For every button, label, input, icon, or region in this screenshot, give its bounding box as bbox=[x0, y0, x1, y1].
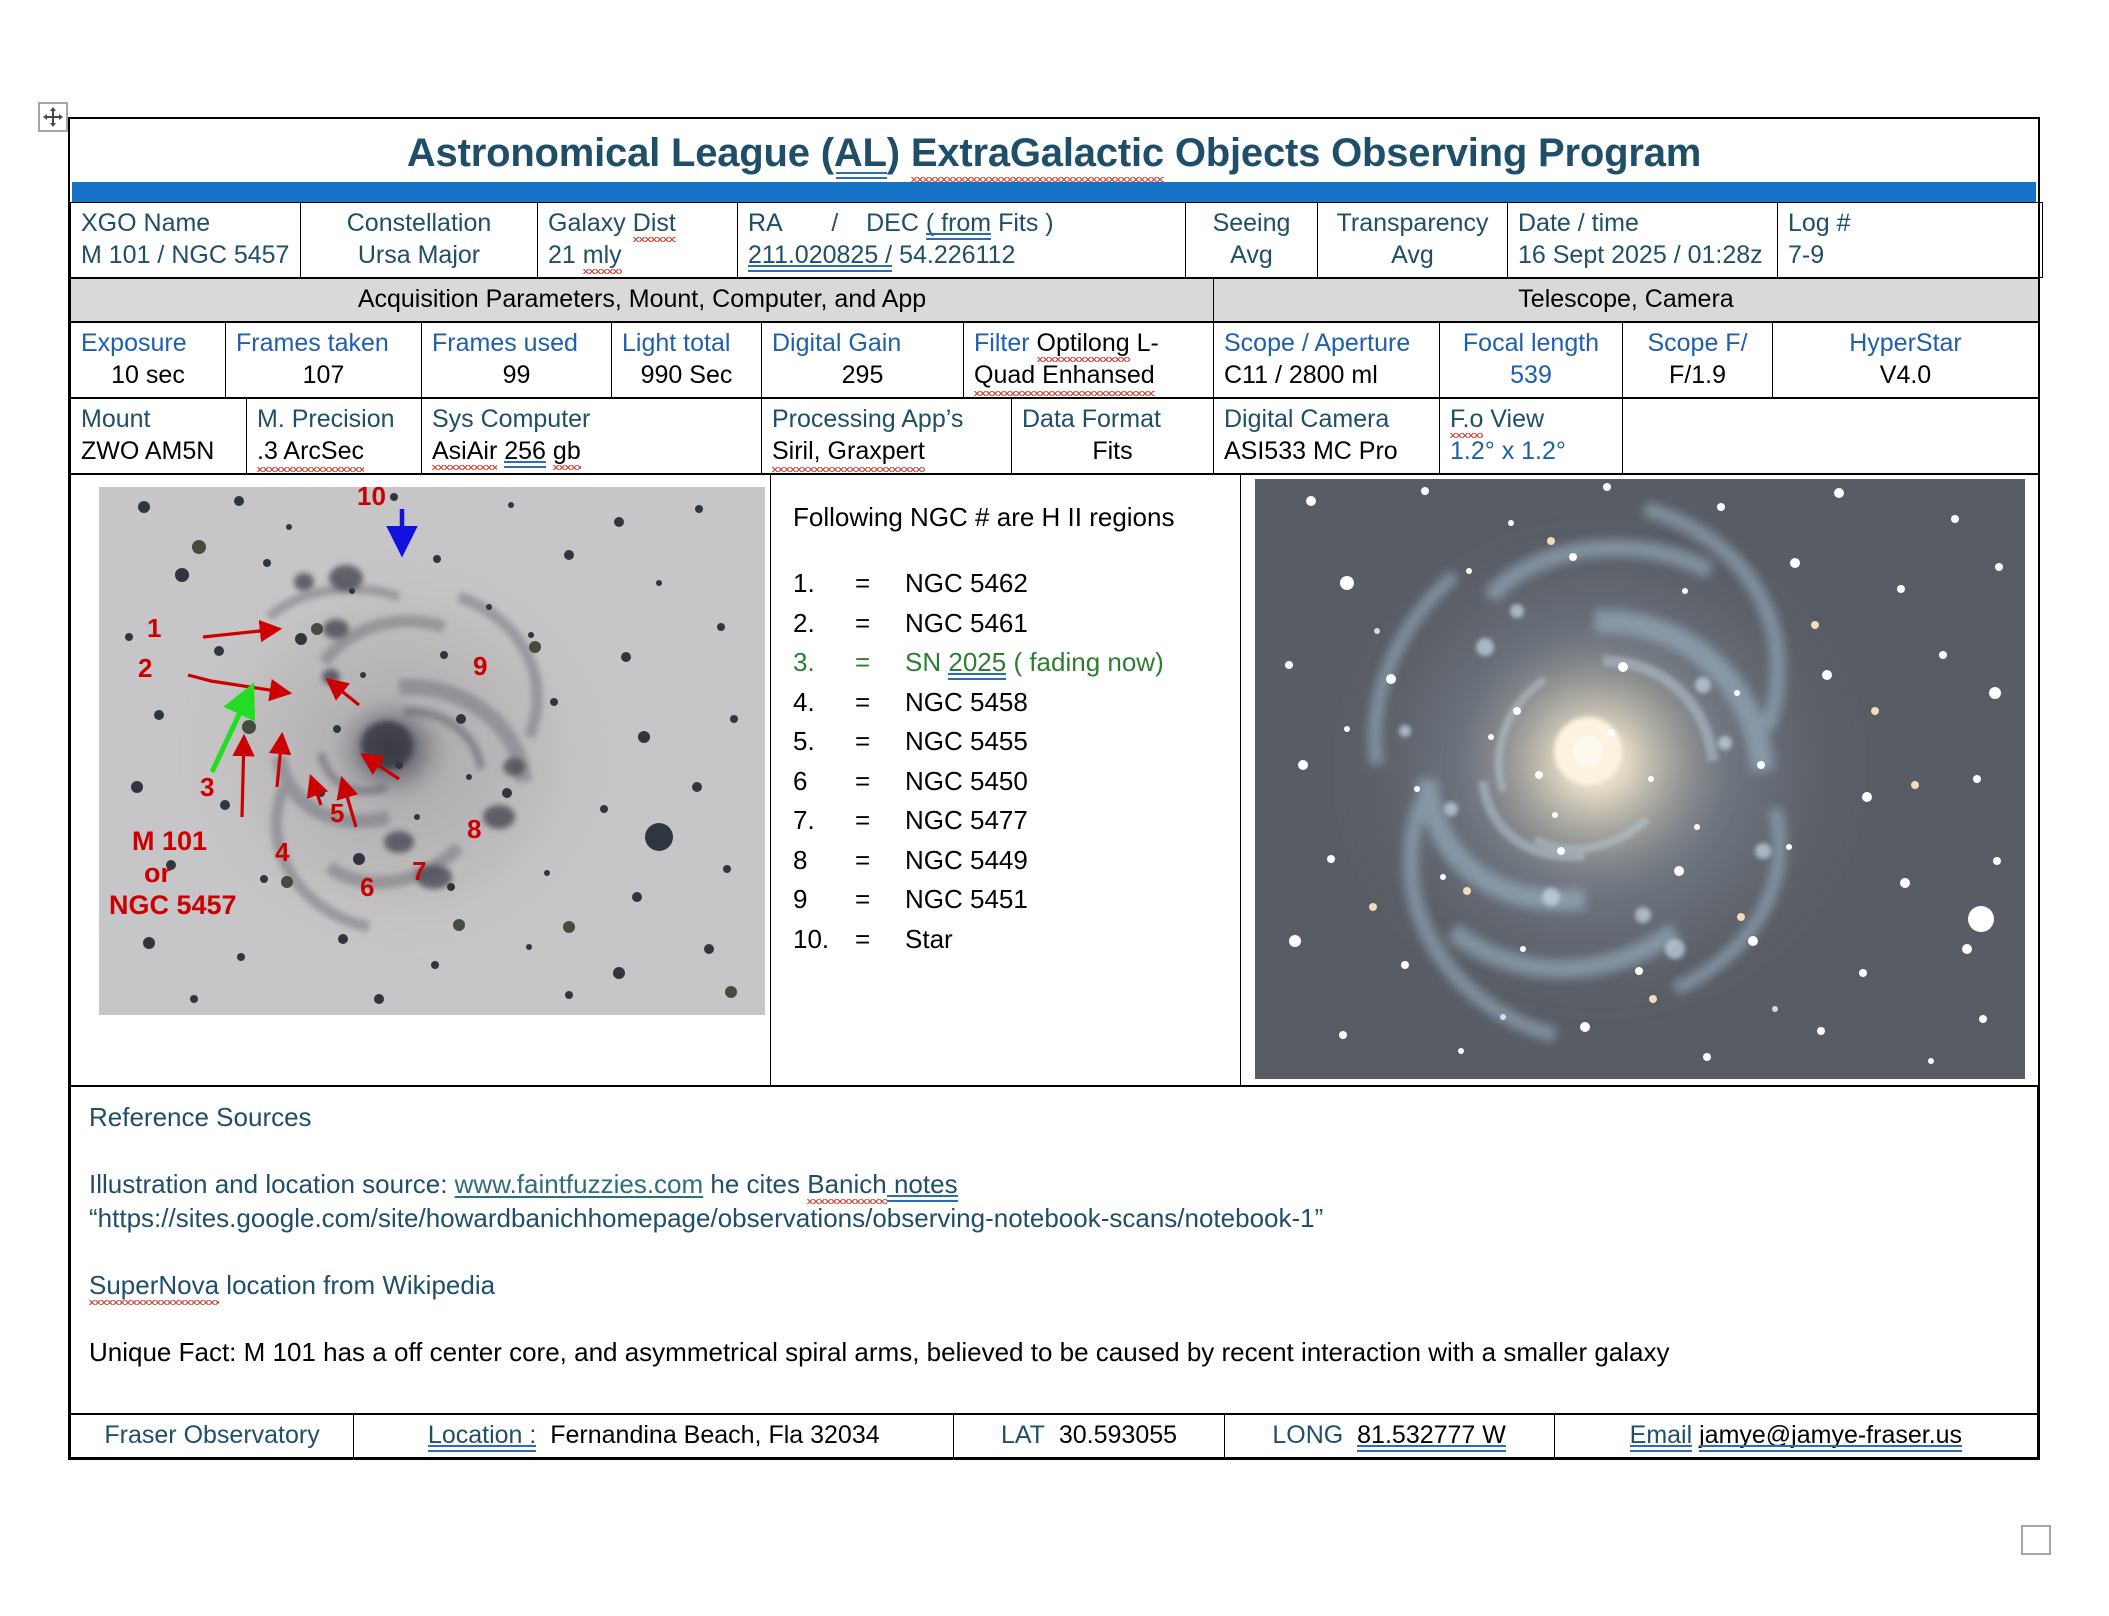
cell-ngc-legend: Following NGC # are H II regions 1. = NG… bbox=[771, 475, 1241, 1086]
value-sys-computer-brand: AsiAir bbox=[432, 437, 497, 465]
value-exposure: 10 sec bbox=[81, 359, 215, 391]
annotation-label-1: 1 bbox=[147, 615, 161, 641]
ngc-legend-list: 1. = NGC 5462 2. = NGC 5461 3. = SN bbox=[793, 564, 1230, 959]
label-filter-word: Filter bbox=[974, 329, 1030, 357]
ngc-number: 10. bbox=[793, 920, 855, 960]
label-mount: Mount bbox=[81, 403, 236, 435]
cell-data-format: Data Format Fits bbox=[1012, 399, 1214, 474]
value-log-number: 7-9 bbox=[1788, 239, 2032, 271]
photograph-canvas bbox=[1255, 479, 2025, 1079]
page-title-row: Astronomical League (AL) ExtraGalactic O… bbox=[70, 119, 2038, 182]
references-table: Reference Sources Illustration and locat… bbox=[70, 1086, 2038, 1414]
cell-transparency: Transparency Avg bbox=[1318, 203, 1508, 278]
band-acquisition: Acquisition Parameters, Mount, Computer,… bbox=[71, 279, 1214, 322]
label-transparency: Transparency bbox=[1328, 207, 1497, 239]
label-dec: DEC bbox=[866, 209, 919, 237]
identity-table: XGO Name M 101 / NGC 5457 Constellation … bbox=[70, 202, 2043, 278]
spacer bbox=[89, 1302, 2037, 1336]
illustration-caption-line-1: M 101 bbox=[132, 828, 207, 855]
sn-suffix: ( fading now) bbox=[1013, 647, 1163, 677]
label-scope-f: Scope F/ bbox=[1633, 327, 1762, 359]
email-label: Email bbox=[1630, 1421, 1693, 1449]
table-resize-handle[interactable] bbox=[2021, 1525, 2051, 1555]
document-page: Astronomical League (AL) ExtraGalactic O… bbox=[0, 0, 2109, 1616]
list-item: 1. = NGC 5462 bbox=[793, 564, 1230, 604]
acquisition-table: Exposure 10 sec Frames taken 107 Frames … bbox=[70, 322, 2039, 398]
title-part-5: Objects Observing Program bbox=[1164, 131, 1701, 175]
label-filter: Filter Optilong L- bbox=[974, 327, 1203, 359]
title-extragalactic-text: ExtraGalactic bbox=[911, 131, 1164, 175]
cell-field-of-view: F.o View 1.2° x 1.2° bbox=[1440, 399, 1623, 474]
squiggle-dist: Dist bbox=[633, 209, 676, 237]
label-exposure: Exposure bbox=[81, 327, 215, 359]
ngc-number: 1. bbox=[793, 564, 855, 604]
email-value-text: jamye@jamye-fraser.us bbox=[1699, 1421, 1962, 1449]
ngc-value: NGC 5462 bbox=[905, 564, 1230, 604]
label-data-format: Data Format bbox=[1022, 403, 1203, 435]
cell-scope-aperture: Scope / Aperture C11 / 2800 ml bbox=[1214, 323, 1440, 398]
ngc-value: NGC 5455 bbox=[905, 722, 1230, 762]
reference-notes: notes bbox=[887, 1169, 958, 1199]
value-galaxy-dist: 21 mly bbox=[548, 239, 727, 271]
ngc-equals: = bbox=[855, 880, 905, 920]
value-processing-apps: Siril, Graxpert bbox=[772, 435, 925, 467]
value-frames-taken: 107 bbox=[236, 359, 411, 391]
value-mount-precision: .3 ArcSec bbox=[257, 435, 364, 467]
ngc-value: NGC 5458 bbox=[905, 683, 1230, 723]
value-frames-used: 99 bbox=[432, 359, 601, 391]
faintfuzzies-link[interactable]: www.faintfuzzies.com bbox=[455, 1169, 704, 1199]
illustration-caption-line-2: or bbox=[144, 860, 171, 887]
label-ra-dec: RA / DEC ( from Fits ) bbox=[748, 207, 1175, 239]
label-filter-suffix: L- bbox=[1130, 329, 1159, 357]
label-from: ( from bbox=[926, 209, 991, 237]
title-al: AL bbox=[834, 131, 887, 175]
value-xgo-name: M 101 / NGC 5457 bbox=[81, 239, 290, 271]
long-value-text: 81.532777 W bbox=[1357, 1421, 1506, 1449]
value-sys-computer-size: 256 bbox=[504, 437, 546, 465]
list-item: 2. = NGC 5461 bbox=[793, 604, 1230, 644]
list-item-supernova: 3. = SN 2025 ( fading now) bbox=[793, 643, 1230, 683]
label-light-total: Light total bbox=[622, 327, 751, 359]
cell-references: Reference Sources Illustration and locat… bbox=[71, 1087, 2038, 1414]
label-focal-length: Focal length bbox=[1450, 327, 1612, 359]
label-digital-gain: Digital Gain bbox=[772, 327, 953, 359]
squiggle-mly: mly bbox=[583, 241, 622, 269]
value-scope-aperture: C11 / 2800 ml bbox=[1224, 359, 1429, 391]
annotation-label-3: 3 bbox=[200, 774, 214, 800]
value-scope-f: F/1.9 bbox=[1633, 359, 1762, 391]
label-digital-camera: Digital Camera bbox=[1224, 403, 1429, 435]
label-fits: Fits ) bbox=[998, 209, 1054, 237]
list-item: 10. = Star bbox=[793, 920, 1230, 960]
ngc-number: 2. bbox=[793, 604, 855, 644]
annotation-label-8: 8 bbox=[467, 816, 481, 842]
cell-empty-spacer bbox=[1623, 399, 2039, 474]
cell-mount-precision: M. Precision .3 ArcSec bbox=[247, 399, 422, 474]
spacer bbox=[89, 1369, 2037, 1403]
cell-location: Location : Fernandina Beach, Fla 32034 bbox=[354, 1415, 954, 1458]
squiggle-fo: F.o bbox=[1450, 405, 1483, 433]
ngc-number: 3. bbox=[793, 643, 855, 683]
long-label: LONG bbox=[1272, 1421, 1343, 1449]
spacer bbox=[89, 1235, 2037, 1269]
title-part-1: Astronomical League ( bbox=[407, 131, 834, 175]
label-ra: RA bbox=[748, 209, 783, 237]
spacer bbox=[89, 1134, 2037, 1168]
cell-illustration: 1 2 3 4 5 6 7 8 9 10 M 101 or NGC 5457 bbox=[71, 475, 771, 1086]
cell-frames-taken: Frames taken 107 bbox=[226, 323, 422, 398]
ngc-value: NGC 5450 bbox=[905, 762, 1230, 802]
label-constellation: Constellation bbox=[311, 207, 527, 239]
finder-illustration: 1 2 3 4 5 6 7 8 9 10 M 101 or NGC 5457 bbox=[99, 487, 765, 1015]
ngc-equals: = bbox=[855, 643, 905, 683]
label-galaxy-dist: Galaxy Dist bbox=[548, 207, 727, 239]
ngc-equals: = bbox=[855, 683, 905, 723]
label-processing-apps: Processing App’s bbox=[772, 403, 1001, 435]
label-field-of-view: F.o View bbox=[1450, 403, 1612, 435]
illustration-caption-line-3: NGC 5457 bbox=[109, 892, 237, 919]
ngc-legend-heading: Following NGC # are H II regions bbox=[793, 501, 1230, 534]
cell-date-time: Date / time 16 Sept 2025 / 01:28z bbox=[1508, 203, 1778, 278]
cell-frames-used: Frames used 99 bbox=[422, 323, 612, 398]
footer-table: Fraser Observatory Location : Fernandina… bbox=[70, 1414, 2038, 1458]
list-item: 8 = NGC 5449 bbox=[793, 841, 1230, 881]
label-seeing: Seeing bbox=[1196, 207, 1307, 239]
list-item: 9 = NGC 5451 bbox=[793, 880, 1230, 920]
value-light-total: 990 Sec bbox=[622, 359, 751, 391]
long-value: 81.532777 W bbox=[1357, 1421, 1506, 1449]
cell-constellation: Constellation Ursa Major bbox=[301, 203, 538, 278]
ngc-equals: = bbox=[855, 604, 905, 644]
sn-prefix: SN bbox=[905, 647, 941, 677]
cell-seeing: Seeing Avg bbox=[1186, 203, 1318, 278]
reference-line1-mid: he cites bbox=[703, 1169, 807, 1199]
label-log-number: Log # bbox=[1788, 207, 2032, 239]
annotation-label-5: 5 bbox=[330, 800, 344, 826]
table-row: Exposure 10 sec Frames taken 107 Frames … bbox=[71, 323, 2039, 398]
cell-galaxy-dist: Galaxy Dist 21 mly bbox=[538, 203, 738, 278]
illustration-canvas bbox=[99, 487, 765, 1015]
value-filter: Quad Enhansed bbox=[974, 359, 1155, 391]
lat-value: 30.593055 bbox=[1059, 1421, 1177, 1449]
ngc-number: 7. bbox=[793, 801, 855, 841]
location-label: Location : bbox=[428, 1421, 536, 1449]
move-four-arrows-icon bbox=[42, 106, 64, 128]
value-constellation: Ursa Major bbox=[311, 239, 527, 271]
ngc-number: 5. bbox=[793, 722, 855, 762]
cell-photograph bbox=[1241, 475, 2039, 1086]
unique-fact-line: Unique Fact: M 101 has a off center core… bbox=[89, 1336, 2037, 1369]
mount-processing-table: Mount ZWO AM5N M. Precision .3 ArcSec Sy… bbox=[70, 398, 2039, 474]
label-slash: / bbox=[831, 209, 838, 237]
list-item: 6 = NGC 5450 bbox=[793, 762, 1230, 802]
location-label-text: Location : bbox=[428, 1421, 536, 1449]
table-row: Mount ZWO AM5N M. Precision .3 ArcSec Sy… bbox=[71, 399, 2039, 474]
list-item: 7. = NGC 5477 bbox=[793, 801, 1230, 841]
reference-line1-prefix: Illustration and location source: bbox=[89, 1169, 455, 1199]
list-item: 5. = NGC 5455 bbox=[793, 722, 1230, 762]
value-seeing: Avg bbox=[1196, 239, 1307, 271]
email-value[interactable]: jamye@jamye-fraser.us bbox=[1699, 1421, 1962, 1449]
value-dec: 54.226112 bbox=[899, 241, 1015, 269]
label-frames-taken: Frames taken bbox=[236, 327, 411, 359]
reference-notes-text: notes bbox=[887, 1169, 958, 1199]
cell-exposure: Exposure 10 sec bbox=[71, 323, 226, 398]
page-title: Astronomical League (AL) ExtraGalactic O… bbox=[407, 131, 1701, 176]
table-row: Acquisition Parameters, Mount, Computer,… bbox=[71, 279, 2039, 322]
value-digital-gain: 295 bbox=[772, 359, 953, 391]
accent-bar bbox=[72, 182, 2036, 202]
cell-focal-length: Focal length 539 bbox=[1440, 323, 1623, 398]
value-field-of-view: 1.2° x 1.2° bbox=[1450, 435, 1612, 467]
table-row: Fraser Observatory Location : Fernandina… bbox=[71, 1415, 2038, 1458]
label-frames-used: Frames used bbox=[432, 327, 601, 359]
references-line-2: “https://sites.google.com/site/howardban… bbox=[89, 1202, 2037, 1235]
ngc-value: NGC 5477 bbox=[905, 801, 1230, 841]
ngc-value: NGC 5449 bbox=[905, 841, 1230, 881]
ngc-equals: = bbox=[855, 722, 905, 762]
annotation-label-6: 6 bbox=[360, 874, 374, 900]
cell-xgo-name: XGO Name M 101 / NGC 5457 bbox=[71, 203, 301, 278]
ngc-number: 8 bbox=[793, 841, 855, 881]
annotation-label-2: 2 bbox=[138, 655, 152, 681]
section-bands: Acquisition Parameters, Mount, Computer,… bbox=[70, 278, 2039, 322]
value-mount: ZWO AM5N bbox=[81, 435, 236, 467]
table-row: XGO Name M 101 / NGC 5457 Constellation … bbox=[71, 203, 2043, 278]
ngc-equals: = bbox=[855, 841, 905, 881]
value-transparency: Avg bbox=[1328, 239, 1497, 271]
value-ra: 211.020825 / bbox=[748, 241, 892, 269]
value-ra-dec: 211.020825 / 54.226112 bbox=[748, 239, 1175, 271]
annotation-label-4: 4 bbox=[275, 839, 289, 865]
ngc-value: NGC 5451 bbox=[905, 880, 1230, 920]
title-part-3: ) bbox=[887, 131, 911, 175]
value-date-time: 16 Sept 2025 / 01:28z bbox=[1518, 239, 1767, 271]
cell-hyperstar: HyperStar V4.0 bbox=[1773, 323, 2039, 398]
label-scope-aperture: Scope / Aperture bbox=[1224, 327, 1429, 359]
cell-digital-camera: Digital Camera ASI533 MC Pro bbox=[1214, 399, 1440, 474]
cell-log-number: Log # 7-9 bbox=[1778, 203, 2043, 278]
value-sys-computer: AsiAir 256 gb bbox=[432, 435, 751, 467]
label-xgo-name: XGO Name bbox=[81, 207, 290, 239]
annotation-label-10: 10 bbox=[357, 487, 386, 509]
title-extragalactic: ExtraGalactic bbox=[911, 131, 1164, 175]
cell-long: LONG 81.532777 W bbox=[1224, 1415, 1554, 1458]
cell-scope-f: Scope F/ F/1.9 bbox=[1623, 323, 1773, 398]
email-label-text: Email bbox=[1630, 1421, 1693, 1449]
value-data-format: Fits bbox=[1022, 435, 1203, 467]
cell-processing-apps: Processing App’s Siril, Graxpert bbox=[762, 399, 1012, 474]
ngc-equals: = bbox=[855, 920, 905, 960]
ngc-equals: = bbox=[855, 762, 905, 802]
observatory-name: Fraser Observatory bbox=[104, 1421, 319, 1449]
supernova-word: SuperNova bbox=[89, 1270, 219, 1300]
references-block: Reference Sources Illustration and locat… bbox=[89, 1101, 2037, 1403]
cell-filter: Filter Optilong L- Quad Enhansed bbox=[964, 323, 1214, 398]
value-digital-camera: ASI533 MC Pro bbox=[1224, 435, 1429, 467]
value-sys-computer-unit: gb bbox=[553, 437, 581, 465]
references-heading: Reference Sources bbox=[89, 1101, 2037, 1134]
ngc-number: 6 bbox=[793, 762, 855, 802]
label-filter-brand: Optilong bbox=[1037, 329, 1130, 357]
cell-sys-computer: Sys Computer AsiAir 256 gb bbox=[422, 399, 762, 474]
band-telescope-camera: Telescope, Camera bbox=[1214, 279, 2039, 322]
references-line-1: Illustration and location source: www.fa… bbox=[89, 1168, 2037, 1201]
label-mount-precision: M. Precision bbox=[257, 403, 411, 435]
cell-lat: LAT 30.593055 bbox=[954, 1415, 1224, 1458]
lat-label: LAT bbox=[1001, 1421, 1045, 1449]
ngc-equals: = bbox=[855, 801, 905, 841]
cell-ra-dec: RA / DEC ( from Fits ) 211.020825 / 54.2… bbox=[738, 203, 1186, 278]
cell-light-total: Light total 990 Sec bbox=[612, 323, 762, 398]
ngc-number: 9 bbox=[793, 880, 855, 920]
list-item: 4. = NGC 5458 bbox=[793, 683, 1230, 723]
ngc-number: 4. bbox=[793, 683, 855, 723]
ngc-value-supernova: SN 2025 ( fading now) bbox=[905, 643, 1230, 683]
label-hyperstar: HyperStar bbox=[1783, 327, 2028, 359]
label-sys-computer: Sys Computer bbox=[432, 403, 751, 435]
annotation-label-7: 7 bbox=[412, 858, 426, 884]
cell-email: Email jamye@jamye-fraser.us bbox=[1554, 1415, 2037, 1458]
value-focal-length: 539 bbox=[1450, 359, 1612, 391]
ngc-value: Star bbox=[905, 920, 1230, 960]
value-ra-text: 211.020825 / bbox=[748, 241, 892, 269]
references-line-3: SuperNova location from Wikipedia bbox=[89, 1269, 2037, 1302]
location-value: Fernandina Beach, Fla 32034 bbox=[550, 1421, 879, 1449]
sn-year: 2025 bbox=[948, 647, 1006, 677]
galaxy-photograph bbox=[1255, 479, 2025, 1079]
ngc-value: NGC 5461 bbox=[905, 604, 1230, 644]
reference-banich: Banich bbox=[807, 1169, 887, 1199]
observing-log-table: Astronomical League (AL) ExtraGalactic O… bbox=[68, 117, 2040, 1460]
annotation-label-9: 9 bbox=[473, 653, 487, 679]
sn-year-text: 2025 bbox=[948, 647, 1006, 677]
label-from-text: ( from bbox=[926, 209, 991, 237]
cell-observatory: Fraser Observatory bbox=[71, 1415, 354, 1458]
title-al-text: AL bbox=[834, 131, 887, 175]
table-row: Reference Sources Illustration and locat… bbox=[71, 1087, 2038, 1414]
table-row: 1 2 3 4 5 6 7 8 9 10 M 101 or NGC 5457 bbox=[71, 475, 2039, 1086]
ngc-equals: = bbox=[855, 564, 905, 604]
media-table: 1 2 3 4 5 6 7 8 9 10 M 101 or NGC 5457 bbox=[70, 474, 2039, 1086]
cell-mount: Mount ZWO AM5N bbox=[71, 399, 247, 474]
table-move-handle[interactable] bbox=[38, 102, 68, 132]
cell-digital-gain: Digital Gain 295 bbox=[762, 323, 964, 398]
value-hyperstar: V4.0 bbox=[1783, 359, 2028, 391]
label-date-time: Date / time bbox=[1518, 207, 1767, 239]
